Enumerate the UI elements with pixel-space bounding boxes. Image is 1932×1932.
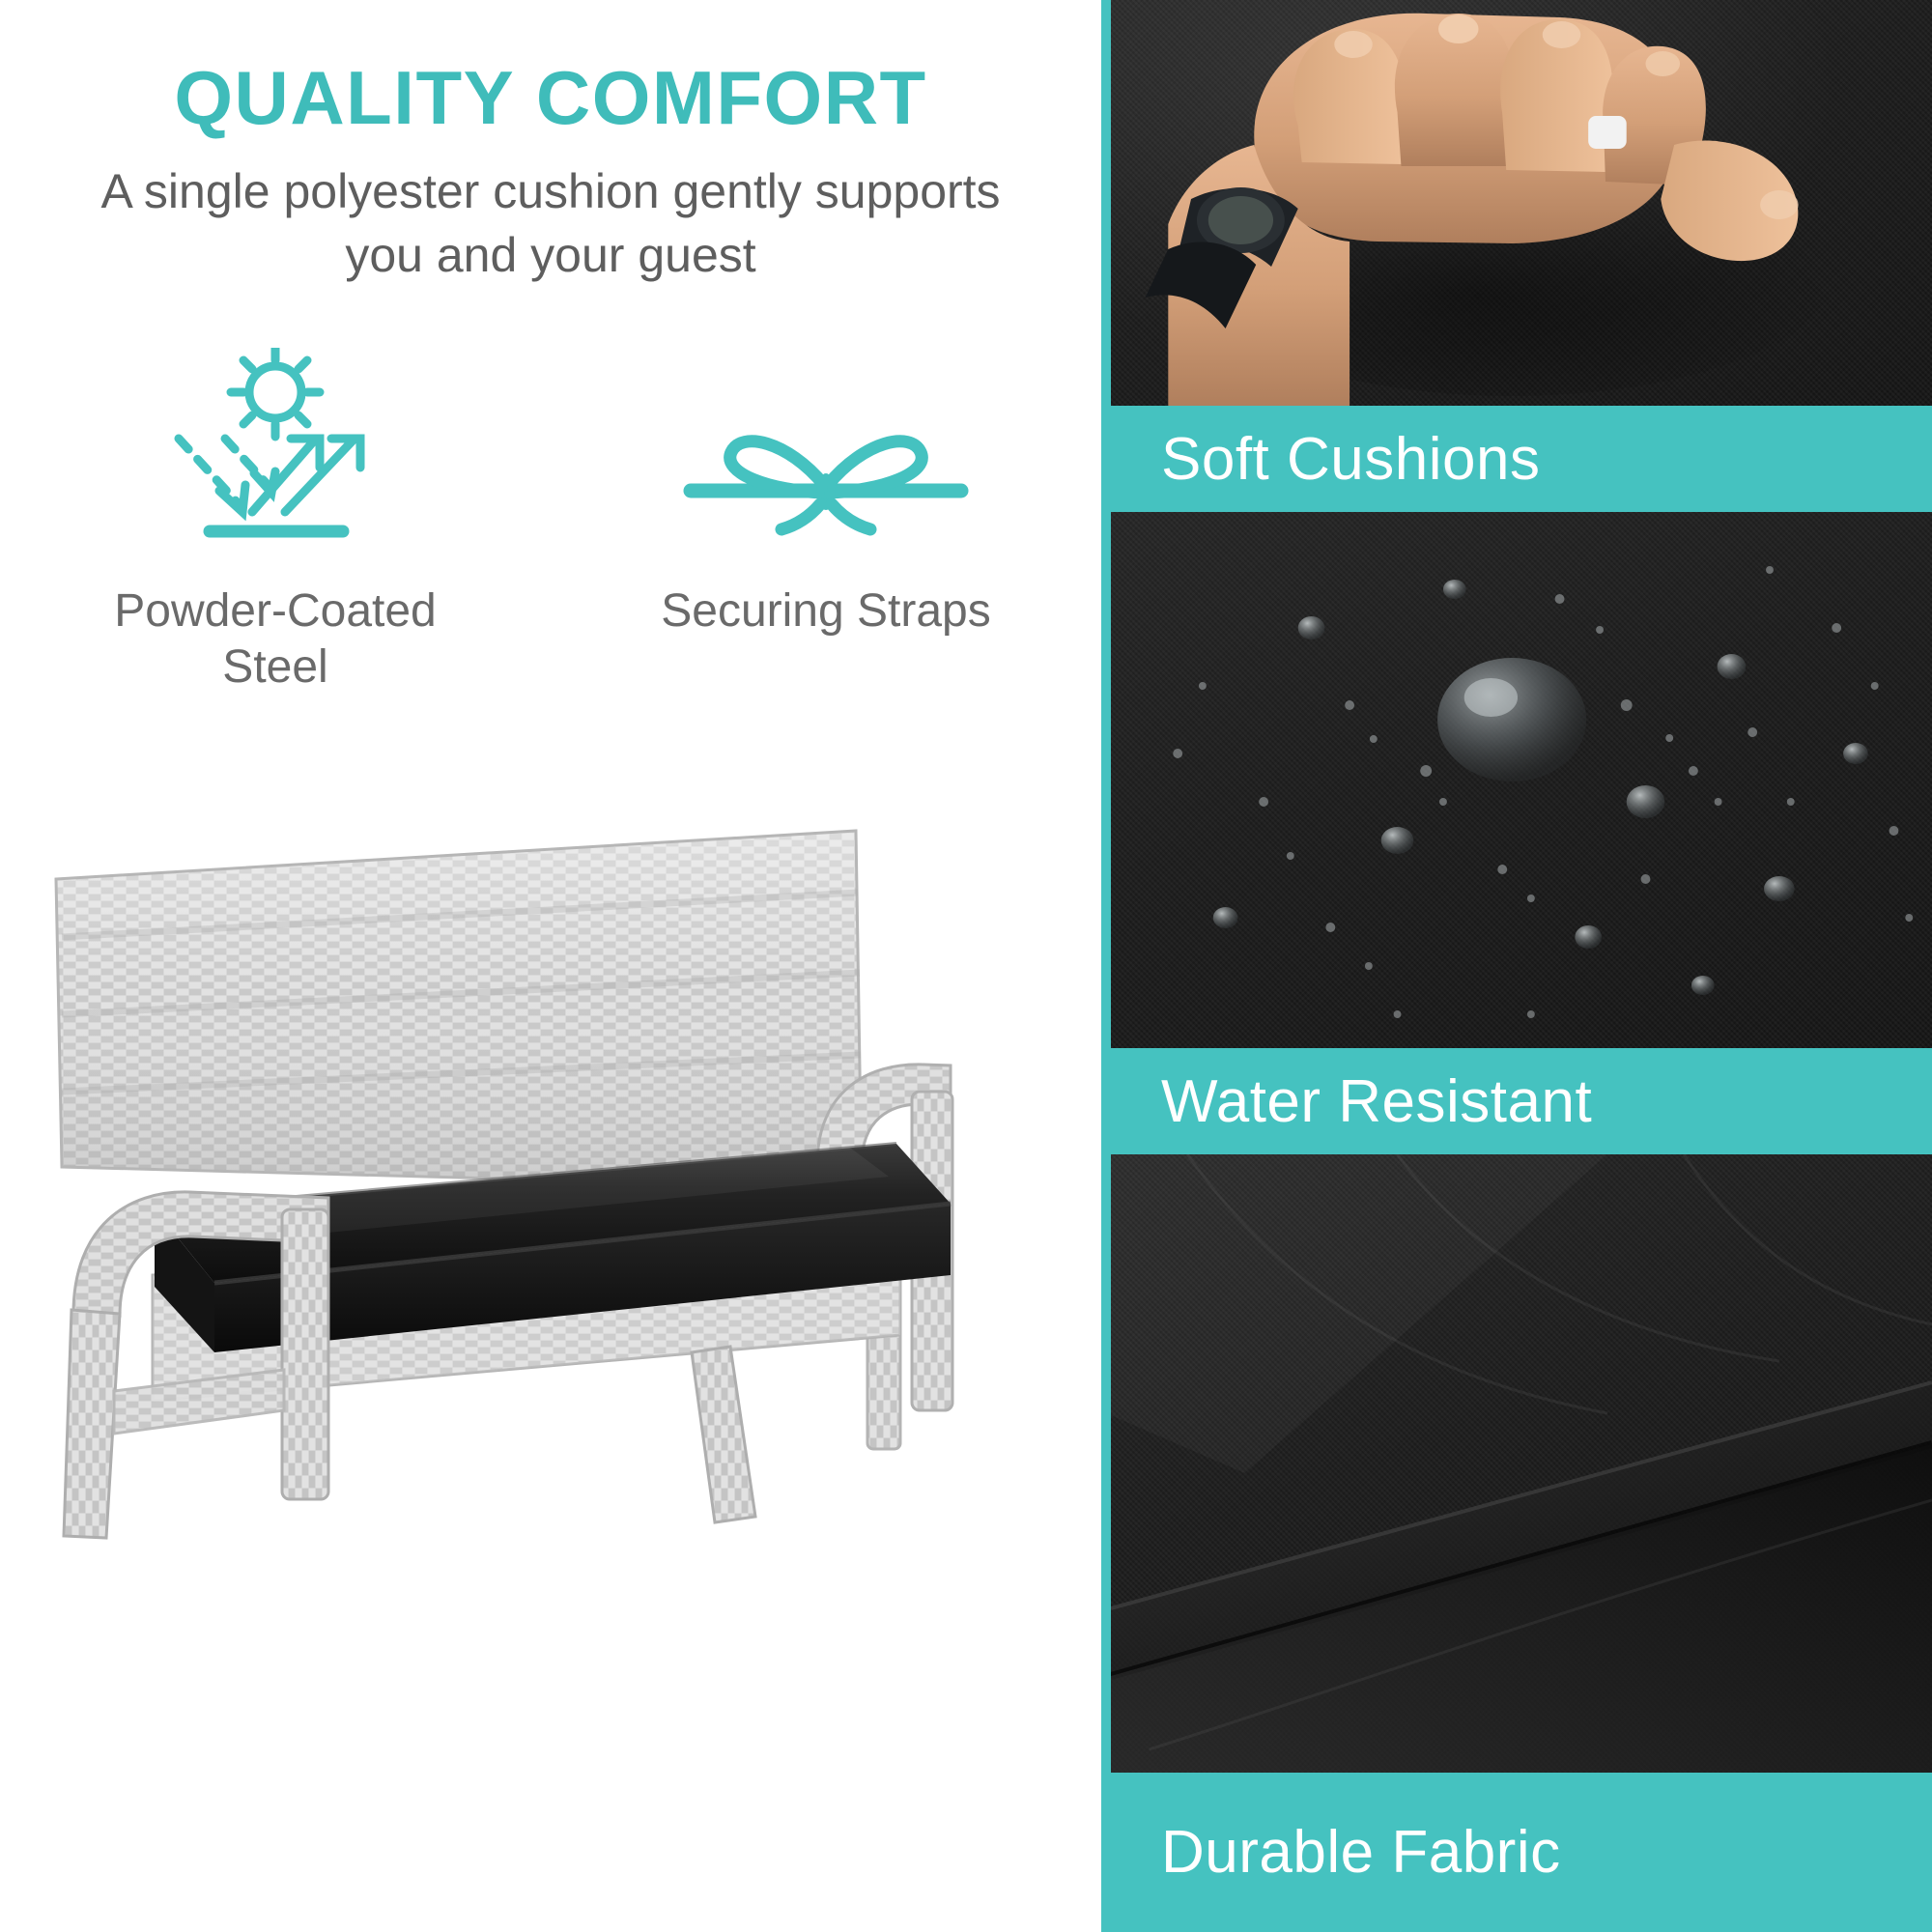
hand-pressing-black-cushion-photo [1111, 0, 1932, 406]
caption-soft-cushions: Soft Cushions [1111, 406, 1932, 512]
panel-durable-fabric: Durable Fabric [1111, 1154, 1932, 1932]
feature-icon-row: Powder-Coated Steel [0, 348, 1101, 696]
page-title: QUALITY COMFORT [0, 60, 1101, 137]
feature-label-securing-straps: Securing Straps [661, 583, 991, 639]
right-column: Soft Cushions [1101, 0, 1932, 1932]
caption-water-resistant: Water Resistant [1111, 1048, 1932, 1154]
product-image-bench [39, 773, 1063, 1546]
feature-label-powder-coated-steel: Powder-Coated Steel [72, 583, 478, 695]
ribbon-bow-icon [551, 348, 1101, 541]
infographic-page: QUALITY COMFORT A single polyester cushi… [0, 0, 1932, 1932]
feature-securing-straps: Securing Straps [551, 348, 1101, 696]
uv-reflect-icon [0, 348, 551, 541]
feature-powder-coated-steel: Powder-Coated Steel [0, 348, 551, 696]
panel-water-resistant: Water Resistant [1111, 512, 1932, 1154]
water-droplets-on-black-fabric-photo [1111, 512, 1932, 1048]
folded-black-fabric-closeup-photo [1111, 1154, 1932, 1773]
page-subtitle: A single polyester cushion gently suppor… [87, 159, 1014, 287]
panel-soft-cushions: Soft Cushions [1111, 0, 1932, 512]
bench-backrest [56, 831, 862, 1188]
bench-stretcher [114, 1370, 284, 1434]
left-column: QUALITY COMFORT A single polyester cushi… [0, 0, 1101, 1932]
caption-durable-fabric: Durable Fabric [1111, 1773, 1932, 1932]
